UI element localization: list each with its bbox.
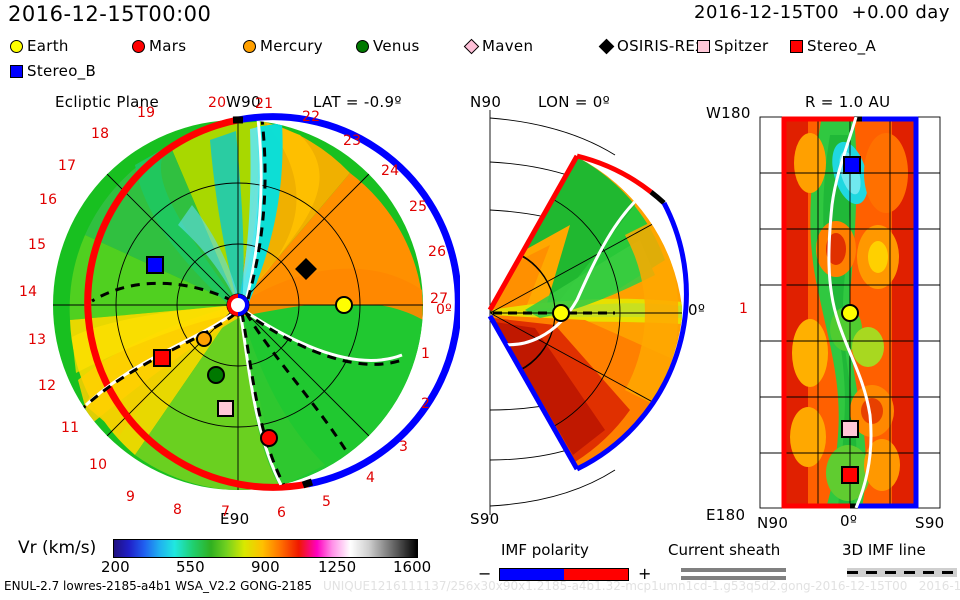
carrington-label: 10 — [89, 458, 107, 472]
legend-item-osiris-rex[interactable]: OSIRIS-REx — [600, 37, 704, 55]
au-map-panel-title: R = 1.0 AU — [805, 95, 890, 110]
au-map-row-label: 1 — [739, 302, 748, 316]
au-map-e180-label: E180 — [706, 508, 745, 523]
run-id-watermark: UNIQUE1216111137/256x30x90x1.2185-a4b1.3… — [323, 580, 960, 592]
au-map-s90-label: S90 — [915, 516, 945, 531]
imf-line-swatch — [847, 568, 957, 577]
legend-label: Stereo_A — [807, 37, 876, 55]
carrington-label: 21 — [255, 97, 273, 111]
au-map-marker-stereo-b[interactable] — [844, 157, 860, 173]
carrington-label: 16 — [39, 193, 57, 207]
colorbar-title: Vr (km/s) — [18, 540, 96, 557]
current-sheath-swatch-top — [681, 568, 786, 572]
carrington-label: 3 — [399, 440, 408, 454]
carrington-label: 11 — [61, 421, 79, 435]
carrington-label: 23 — [343, 134, 361, 148]
velocity-colorbar[interactable] — [113, 539, 418, 558]
legend-label: Maven — [482, 37, 533, 55]
stereo-a-marker-icon — [790, 40, 803, 53]
carrington-label: 18 — [91, 127, 109, 141]
spitzer-marker-icon — [697, 40, 710, 53]
carrington-label: 5 — [322, 495, 331, 509]
colorbar-tick: 550 — [176, 560, 205, 575]
carrington-label: 8 — [173, 503, 182, 517]
carrington-label: 4 — [366, 471, 375, 485]
colorbar-tick: 900 — [251, 560, 280, 575]
colorbar-tick: 1250 — [318, 560, 356, 575]
meridional-marker-earth[interactable] — [553, 305, 569, 321]
au-map-w180-label: W180 — [706, 106, 751, 121]
colorbar-tick: 1600 — [393, 560, 431, 575]
carrington-label: 22 — [302, 110, 320, 124]
au-map-marker-earth[interactable] — [842, 305, 858, 321]
carrington-label: 14 — [19, 285, 37, 299]
carrington-longitude-labels: 27 1 2 3 4 5 6 7 8 9 10 11 12 13 14 15 1… — [0, 0, 480, 540]
meridional-panel-title: LON = 0º — [538, 95, 610, 110]
meridional-n90-label: N90 — [470, 95, 501, 110]
timestamp-title-right: 2016-12-15T00 +0.00 day — [694, 4, 950, 22]
meridional-plane-plot[interactable] — [465, 110, 695, 515]
imf-polarity-title: IMF polarity — [501, 543, 589, 558]
legend-item-stereo-a[interactable]: Stereo_A — [790, 37, 876, 55]
carrington-label: 26 — [428, 245, 446, 259]
carrington-label: 6 — [277, 506, 286, 520]
legend-item-spitzer[interactable]: Spitzer — [697, 37, 768, 55]
current-sheath-title: Current sheath — [668, 543, 780, 558]
carrington-label: 1 — [421, 347, 430, 361]
imf-line-title: 3D IMF line — [842, 543, 926, 558]
model-credit-text: ENUL-2.7 lowres-2185-a4b1 WSA_V2.2 GONG-… — [4, 580, 312, 592]
carrington-label: 19 — [137, 106, 155, 120]
carrington-label: 2 — [421, 397, 430, 411]
carrington-label: 12 — [38, 379, 56, 393]
carrington-label: 7 — [221, 505, 230, 519]
carrington-label: 25 — [409, 200, 427, 214]
au-map-zero-label: 0º — [840, 514, 857, 529]
carrington-label: 24 — [381, 164, 399, 178]
au-map-marker-spitzer[interactable] — [842, 421, 858, 437]
carrington-label: 27 — [430, 292, 448, 306]
carrington-label: 9 — [126, 490, 135, 504]
carrington-label: 17 — [58, 159, 76, 173]
carrington-label: 20 — [208, 96, 226, 110]
colorbar-tick: 200 — [101, 560, 130, 575]
carrington-label: 13 — [28, 333, 46, 347]
legend-label: Spitzer — [714, 37, 768, 55]
au-map-marker-stereo-a[interactable] — [842, 467, 858, 483]
carrington-label: 15 — [28, 238, 46, 252]
legend-label: OSIRIS-REx — [617, 37, 704, 55]
au-1-map-plot[interactable] — [750, 115, 950, 510]
au-map-n90-label: N90 — [757, 516, 788, 531]
osiris-rex-marker-icon — [599, 38, 615, 54]
